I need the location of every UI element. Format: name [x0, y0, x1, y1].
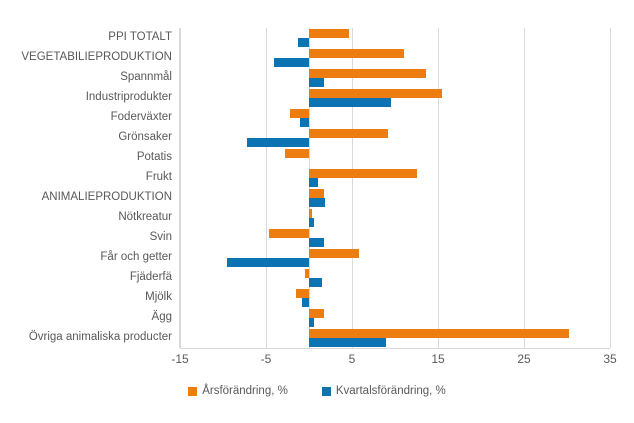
y-axis-label: Potatis [0, 151, 172, 164]
bar-row [180, 149, 610, 169]
y-axis-label: VEGETABILIEPRODUKTION [0, 51, 172, 64]
bar-kvartalsforandring [300, 118, 309, 127]
x-axis-tick-labels: -15-55152535 [0, 352, 634, 372]
bar-kvartalsforandring [274, 58, 309, 67]
y-axis-category-labels: PPI TOTALTVEGETABILIEPRODUKTIONSpannmålI… [0, 28, 172, 348]
bar-kvartalsforandring [247, 138, 309, 147]
legend-label: Kvartalsförändring, % [336, 385, 446, 397]
bar-row [180, 89, 610, 109]
gridline-35 [610, 28, 611, 348]
bar-row [180, 109, 610, 129]
bar-arsforandring [309, 309, 324, 318]
y-axis-label: Ägg [0, 311, 172, 324]
legend-item[interactable]: Årsförändring, % [188, 385, 288, 397]
bar-arsforandring [269, 229, 309, 238]
bar-kvartalsforandring [309, 98, 391, 107]
producer-price-index-bar-chart: PPI TOTALTVEGETABILIEPRODUKTIONSpannmålI… [0, 0, 634, 423]
y-axis-label: Mjölk [0, 291, 172, 304]
y-axis-label: Svin [0, 231, 172, 244]
bar-kvartalsforandring [309, 278, 322, 287]
bar-row [180, 269, 610, 289]
bar-arsforandring [296, 289, 309, 298]
bar-row [180, 329, 610, 349]
y-axis-label: Foderväxter [0, 111, 172, 124]
y-axis-label: Nötkreatur [0, 211, 172, 224]
bar-kvartalsforandring [298, 38, 309, 47]
bar-kvartalsforandring [309, 78, 324, 87]
bar-arsforandring [305, 269, 309, 278]
x-axis-baseline [180, 348, 610, 349]
bar-row [180, 289, 610, 309]
bar-arsforandring [285, 149, 309, 158]
chart-legend: Årsförändring, %Kvartalsförändring, % [0, 385, 634, 397]
bar-kvartalsforandring [309, 318, 314, 327]
bar-row [180, 129, 610, 149]
x-axis-tick-label: 15 [431, 352, 444, 366]
bar-row [180, 309, 610, 329]
bar-kvartalsforandring [309, 198, 325, 207]
bar-kvartalsforandring [302, 298, 309, 307]
x-axis-tick-label: 35 [603, 352, 616, 366]
y-axis-label: ANIMALIEPRODUKTION [0, 191, 172, 204]
bar-row [180, 49, 610, 69]
bar-arsforandring [309, 69, 426, 78]
x-axis-tick-label: 5 [349, 352, 356, 366]
bar-row [180, 209, 610, 229]
x-axis-tick-label: -5 [261, 352, 272, 366]
bar-arsforandring [309, 169, 417, 178]
legend-item[interactable]: Kvartalsförändring, % [322, 385, 446, 397]
legend-swatch-icon [188, 387, 197, 396]
y-axis-label: Spannmål [0, 71, 172, 84]
bar-kvartalsforandring [227, 258, 309, 267]
bar-row [180, 29, 610, 49]
bar-row [180, 249, 610, 269]
y-axis-label: PPI TOTALT [0, 31, 172, 44]
bar-arsforandring [309, 329, 569, 338]
bar-row [180, 69, 610, 89]
bar-arsforandring [309, 189, 324, 198]
bar-arsforandring [309, 129, 388, 138]
y-axis-label: Frukt [0, 171, 172, 184]
bar-kvartalsforandring [309, 218, 314, 227]
bar-arsforandring [309, 249, 359, 258]
bar-rows [180, 28, 610, 348]
y-axis-label: Industriprodukter [0, 91, 172, 104]
bar-arsforandring [309, 89, 442, 98]
bar-arsforandring [309, 49, 404, 58]
y-axis-label: Grönsaker [0, 131, 172, 144]
legend-swatch-icon [322, 387, 331, 396]
legend-label: Årsförändring, % [202, 385, 288, 397]
bar-row [180, 169, 610, 189]
bar-kvartalsforandring [309, 338, 386, 347]
bar-kvartalsforandring [309, 178, 318, 187]
y-axis-label: Får och getter [0, 251, 172, 264]
x-axis-tick-label: 25 [517, 352, 530, 366]
bar-row [180, 229, 610, 249]
bar-kvartalsforandring [309, 238, 324, 247]
x-axis-tick-label: -15 [171, 352, 188, 366]
plot-area [180, 28, 610, 348]
bar-arsforandring [309, 209, 312, 218]
y-axis-label: Övriga animaliska producter [0, 331, 172, 344]
y-axis-label: Fjäderfä [0, 271, 172, 284]
bar-row [180, 189, 610, 209]
bar-arsforandring [309, 29, 349, 38]
bar-arsforandring [290, 109, 309, 118]
